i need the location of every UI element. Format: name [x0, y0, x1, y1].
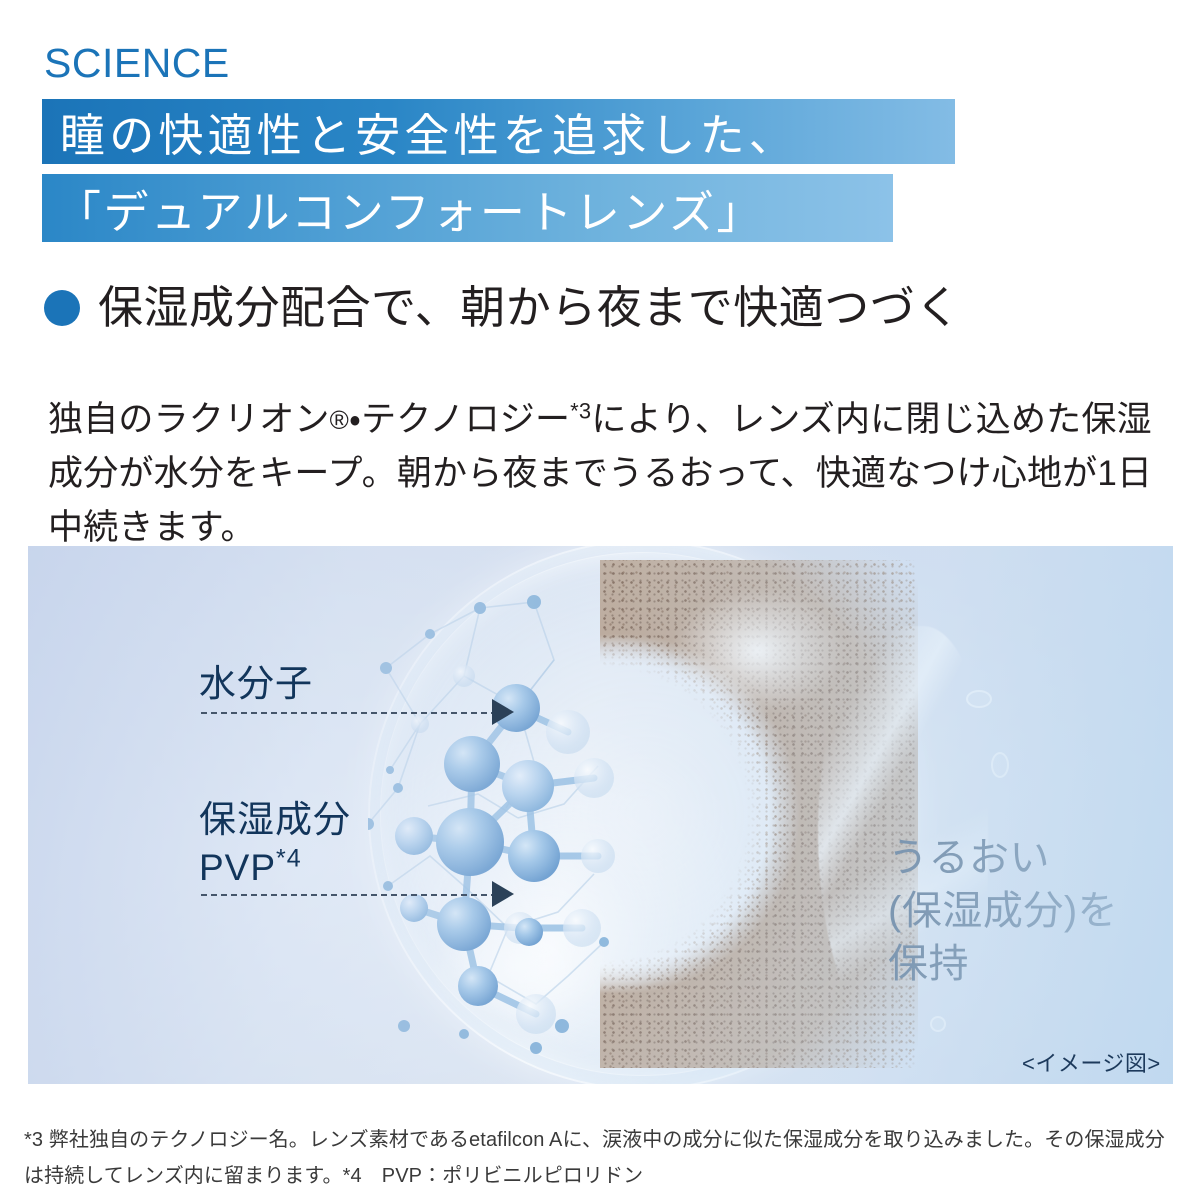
callout-arrow-icon-1 — [492, 699, 514, 725]
callout-pvp-label-line-1: 保湿成分 — [199, 796, 351, 844]
callout-pvp: 保湿成分 PVP*4 — [199, 796, 351, 892]
illustration-right-copy: うるおい (保湿成分)を 保持 — [888, 832, 1118, 991]
water-droplet-icon — [991, 752, 1009, 778]
iris-highlight-graphic — [668, 586, 848, 716]
callout-arrow-icon-2 — [492, 881, 514, 907]
image-disclaimer-note: <イメージ図> — [1022, 1046, 1161, 1078]
callout-pvp-label-line-2: PVP*4 — [199, 844, 351, 892]
headline-banner-line-2: 「デュアルコンフォートレンズ」 — [42, 174, 893, 242]
callout-water-molecule-label: 水分子 — [199, 663, 313, 704]
water-droplet-icon — [966, 690, 992, 708]
callout-pvp-abbr-text: PVP — [199, 847, 276, 888]
headline-banner-line-1-text: 瞳の快適性と安全性を追求した、 — [60, 99, 798, 164]
callout-leader-line-2 — [201, 894, 497, 896]
section-eyebrow: SCIENCE — [44, 40, 230, 86]
right-copy-line-2: (保湿成分)を — [888, 885, 1118, 938]
bullet-dot-icon — [44, 290, 80, 326]
bullet-heading: 保湿成分配合で、朝から夜まで快適つづく — [44, 283, 961, 333]
right-copy-line-1: うるおい — [888, 832, 1118, 885]
footnote-text: *3 弊社独自のテクノロジー名。レンズ素材であるetafilcon Aに、涙液中… — [24, 1122, 1182, 1194]
callout-leader-line-1 — [201, 712, 497, 714]
molecule-network-graphic — [368, 556, 688, 1056]
bullet-heading-text: 保湿成分配合で、朝から夜まで快適つづく — [98, 283, 961, 333]
headline-banner-line-2-text: 「デュアルコンフォートレンズ」 — [56, 176, 764, 241]
headline-banner-line-1: 瞳の快適性と安全性を追求した、 — [42, 99, 955, 164]
water-droplet-icon — [930, 1016, 946, 1032]
right-copy-line-3: 保持 — [888, 938, 1118, 991]
body-paragraph: 独自のラクリオン®・テクノロジー*3により、レンズ内に閉じ込めた保湿成分が水分を… — [48, 393, 1163, 555]
callout-water-molecule: 水分子 — [199, 662, 313, 706]
science-section: SCIENCE 瞳の快適性と安全性を追求した、 「デュアルコンフォートレンズ」 … — [0, 0, 1200, 1200]
callout-pvp-footnote-mark: *4 — [276, 845, 302, 873]
